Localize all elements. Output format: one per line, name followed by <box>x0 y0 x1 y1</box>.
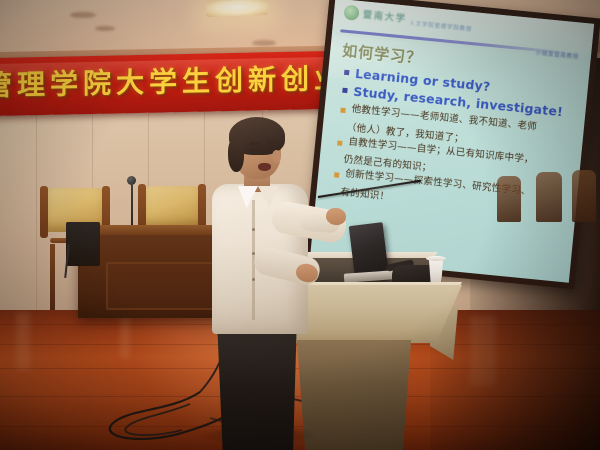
paper-cup-rim <box>426 256 446 261</box>
speaker-mouth <box>258 163 271 171</box>
ceiling-light-icon <box>206 0 268 17</box>
paper-cup-icon <box>428 258 444 282</box>
audience-chair <box>572 170 596 222</box>
event-banner: 管理学院大学生创新创业 <box>0 50 354 116</box>
ceiling-vent-icon <box>70 12 96 18</box>
bullet-square-icon <box>342 88 347 93</box>
speaker-ear <box>272 150 281 163</box>
ceiling-vent-icon <box>252 40 276 46</box>
projection-screen: 暨南大学 人文学院管理学院教授 小城度暨南教授 如何学习？ Learning o… <box>303 0 600 289</box>
event-banner-text: 管理学院大学生创新创业 <box>0 56 354 104</box>
bullet-square-icon <box>334 172 339 177</box>
lecture-hall-photo: 管理学院大学生创新创业 暨南大学 人文学院管理学院教授 小城度暨南教授 如何学习… <box>0 0 600 450</box>
audience-chair <box>497 176 521 222</box>
audience-chair <box>536 172 562 222</box>
table-equipment <box>66 222 100 266</box>
speaker-trousers <box>214 330 300 450</box>
speaker-hair-side <box>228 138 244 172</box>
bullet-square-icon <box>337 140 342 145</box>
bullet-square-icon <box>340 108 345 113</box>
bullet-square-icon <box>344 70 349 75</box>
ceiling-vent-icon <box>95 26 115 31</box>
